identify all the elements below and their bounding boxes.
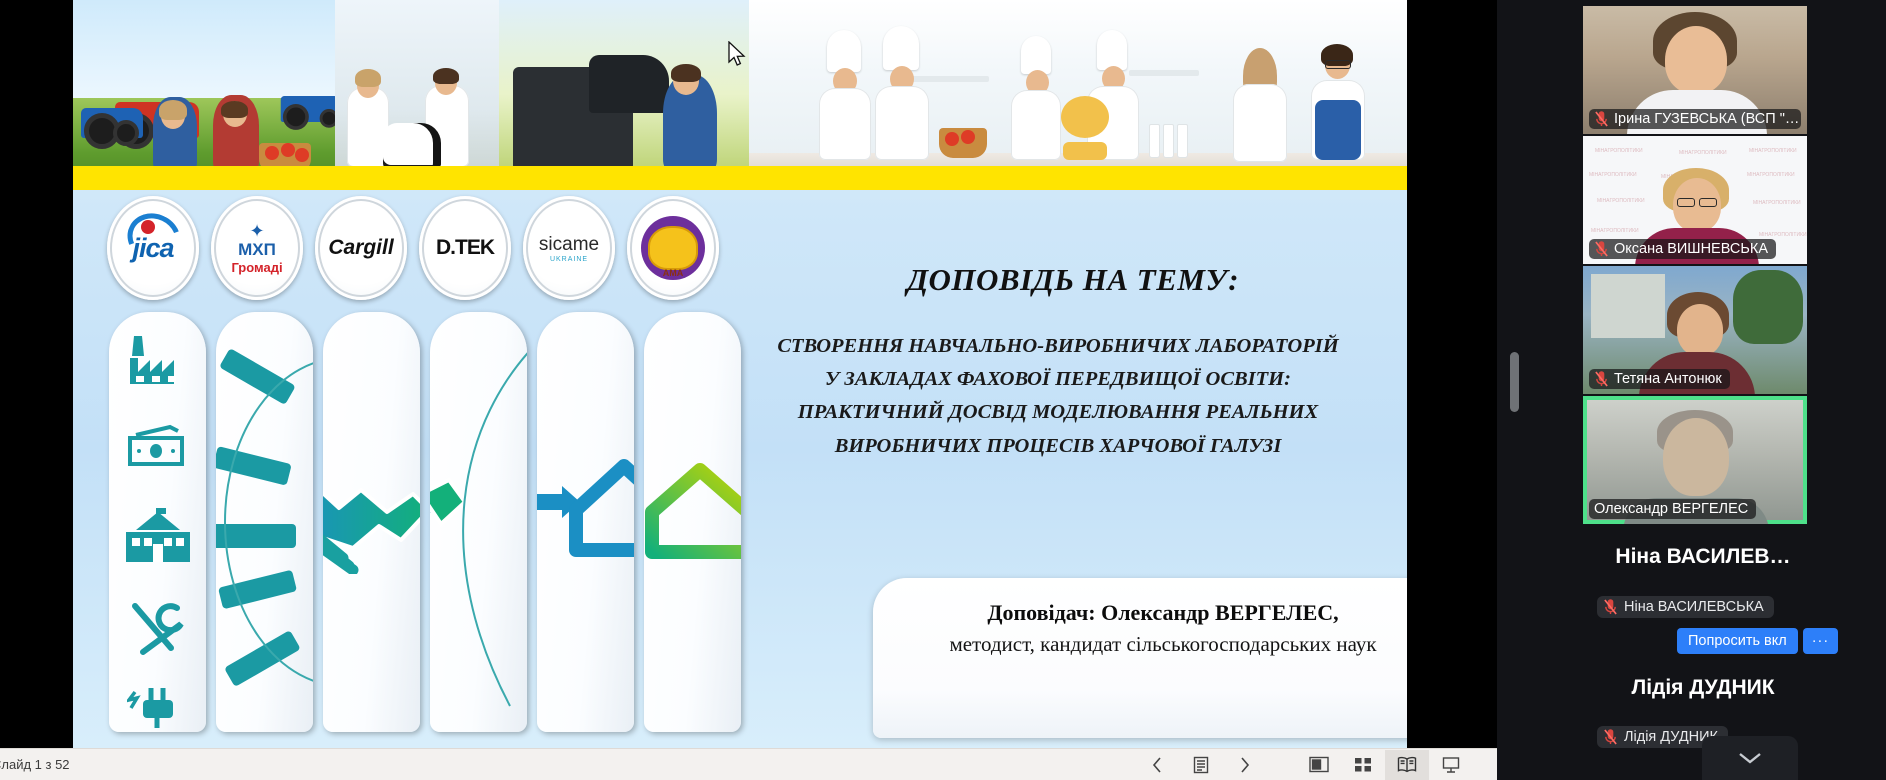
sicame-logo-subtext: UKRAINE xyxy=(550,256,588,263)
jica-logo: jica xyxy=(107,196,199,300)
more-options-button[interactable]: ··· xyxy=(1803,628,1839,654)
ribbon-panel-3 xyxy=(323,312,420,732)
participant-tile-3-name-badge: Тетяна Антонюк xyxy=(1589,369,1730,389)
ribbon-panel-group xyxy=(109,312,741,732)
sidebar-scrollbar[interactable] xyxy=(1503,0,1515,780)
sponsor-logo-row: jica ✦ МХП Громаді Cargill D.TEK sicame … xyxy=(107,196,719,300)
slide-canvas[interactable]: jica ✦ МХП Громаді Cargill D.TEK sicame … xyxy=(73,0,1407,748)
ama-logo: AMA xyxy=(627,196,719,300)
ask-to-unmute-button[interactable]: Попросить вкл xyxy=(1677,628,1798,654)
participant-tile-4-name: Олександр ВЕРГЕЛЕС xyxy=(1594,501,1748,517)
normal-view-button[interactable] xyxy=(1297,750,1341,780)
mhp-logo-subtext: Громаді xyxy=(231,260,282,275)
presentation-stage: jica ✦ МХП Громаді Cargill D.TEK sicame … xyxy=(0,0,1497,780)
ama-logo-text: AMA xyxy=(663,268,684,278)
speaker-title: методист, кандидат сільськогосподарських… xyxy=(873,632,1407,657)
slide-headline: ДОПОВІДЬ НА ТЕМУ: xyxy=(773,262,1373,298)
participant-tile-3-name: Тетяна Антонюк xyxy=(1614,371,1722,387)
mhp-logo-text: МХП xyxy=(238,240,276,260)
participant-tile-3[interactable]: Тетяна Антонюк xyxy=(1583,266,1807,394)
mhp-logo: ✦ МХП Громаді xyxy=(211,196,303,300)
previous-slide-button[interactable] xyxy=(1135,750,1179,780)
sicame-logo-text: sicame xyxy=(539,234,599,256)
participant-tile-1[interactable]: Ірина ГУЗЕВСЬКА (ВСП "… xyxy=(1583,6,1807,134)
mic-off-icon xyxy=(1594,111,1609,127)
slideshow-button[interactable] xyxy=(1429,750,1473,780)
chevron-down-icon xyxy=(1737,750,1763,766)
mic-off-icon xyxy=(1603,729,1618,745)
subtitle-line-2: У ЗАКЛАДАХ ФАХОВОЇ ПЕРЕДВИЩОЇ ОСВІТИ: xyxy=(733,363,1383,396)
ribbon-panel-2 xyxy=(216,312,313,732)
dtek-logo: D.TEK xyxy=(419,196,511,300)
plug-icon xyxy=(127,684,189,732)
participant-video-tiles: Ірина ГУЗЕВСЬКА (ВСП "… МІНАГРОПОЛІТИКИ … xyxy=(1583,6,1807,526)
mic-off-icon xyxy=(1594,241,1609,257)
subtitle-line-1: СТВОРЕННЯ НАВЧАЛЬНО-ВИРОБНИЧИХ ЛАБОРАТОР… xyxy=(733,330,1383,363)
banner-food-industry-photo xyxy=(749,0,1407,182)
slide-sorter-button[interactable] xyxy=(1341,750,1385,780)
banner-agriculture-photo xyxy=(73,0,749,182)
participant-tile-4[interactable]: Олександр ВЕРГЕЛЕС xyxy=(1583,396,1807,524)
ribbon-panel-1 xyxy=(109,312,206,732)
participant-pill-1-name: Ніна ВАСИЛЕВСЬКА xyxy=(1624,599,1764,615)
mic-off-icon xyxy=(1603,599,1618,615)
tools-icon xyxy=(125,598,191,663)
school-icon xyxy=(122,508,194,571)
cargill-logo: Cargill xyxy=(315,196,407,300)
slide-banner-image xyxy=(73,0,1407,190)
money-icon xyxy=(126,422,190,473)
sicame-logo: sicame UKRAINE xyxy=(523,196,615,300)
notes-button[interactable] xyxy=(1179,750,1223,780)
participant-tile-2[interactable]: МІНАГРОПОЛІТИКИ МІНАГРОПОЛІТИКИ МІНАГРОП… xyxy=(1583,136,1807,264)
participant-tile-1-name-badge: Ірина ГУЗЕВСЬКА (ВСП "… xyxy=(1589,109,1801,129)
ribbon-panel-6 xyxy=(644,312,741,732)
house-teal-icon xyxy=(566,454,634,569)
handshake-icon xyxy=(323,464,420,579)
banner-yellow-stripe xyxy=(73,166,1407,190)
dtek-logo-text: D.TEK xyxy=(436,236,494,260)
slide-counter: Слайд 1 з 52 xyxy=(0,757,70,772)
participant-pill-1: Ніна ВАСИЛЕВСЬКА xyxy=(1597,596,1774,618)
next-slide-button[interactable] xyxy=(1223,750,1267,780)
status-bar-tools xyxy=(1135,750,1473,780)
participant-tile-2-name: Оксана ВИШНЕВСЬКА xyxy=(1614,241,1768,257)
screen-root: jica ✦ МХП Громаді Cargill D.TEK sicame … xyxy=(0,0,1886,780)
ama-bear-icon xyxy=(650,228,696,268)
mhp-ornament-icon: ✦ xyxy=(249,222,264,240)
reading-view-button[interactable] xyxy=(1385,750,1429,780)
active-speaker-name-1: Ніна ВАСИЛЕВ… xyxy=(1583,545,1823,569)
participant-tile-2-name-badge: Оксана ВИШНЕВСЬКА xyxy=(1589,239,1776,259)
collapse-sidebar-button[interactable] xyxy=(1702,736,1798,780)
powerpoint-status-bar: Слайд 1 з 52 xyxy=(0,748,1497,780)
participant-tile-4-name-badge: Олександр ВЕРГЕЛЕС xyxy=(1589,499,1756,519)
sidebar-scrollbar-thumb[interactable] xyxy=(1510,352,1519,412)
factory-icon xyxy=(126,332,190,393)
ribbon-panel-5 xyxy=(537,312,634,732)
video-sidebar: Ірина ГУЗЕВСЬКА (ВСП "… МІНАГРОПОЛІТИКИ … xyxy=(1497,0,1886,780)
ribbon-panel-4 xyxy=(430,312,527,732)
speaker-name: Доповідач: Олександр ВЕРГЕЛЕС, xyxy=(873,600,1407,626)
slide-subtitle: СТВОРЕННЯ НАВЧАЛЬНО-ВИРОБНИЧИХ ЛАБОРАТОР… xyxy=(733,330,1383,463)
house-green-icon xyxy=(644,460,741,569)
active-speaker-name-2: Лідія ДУДНИК xyxy=(1583,676,1823,700)
cargill-logo-text: Cargill xyxy=(328,236,393,260)
participant-tile-1-name: Ірина ГУЗЕВСЬКА (ВСП "… xyxy=(1614,111,1799,127)
speaker-info-box: Доповідач: Олександр ВЕРГЕЛЕС, методист,… xyxy=(873,578,1407,738)
subtitle-line-4: ВИРОБНИЧИХ ПРОЦЕСІВ ХАРЧОВОЇ ГАЛУЗІ xyxy=(733,430,1383,463)
mic-off-icon xyxy=(1594,371,1609,387)
subtitle-line-3: ПРАКТИЧНИЙ ДОСВІД МОДЕЛЮВАННЯ РЕАЛЬНИХ xyxy=(733,396,1383,429)
participant-actions-1: Попросить вкл ··· xyxy=(1677,628,1838,654)
